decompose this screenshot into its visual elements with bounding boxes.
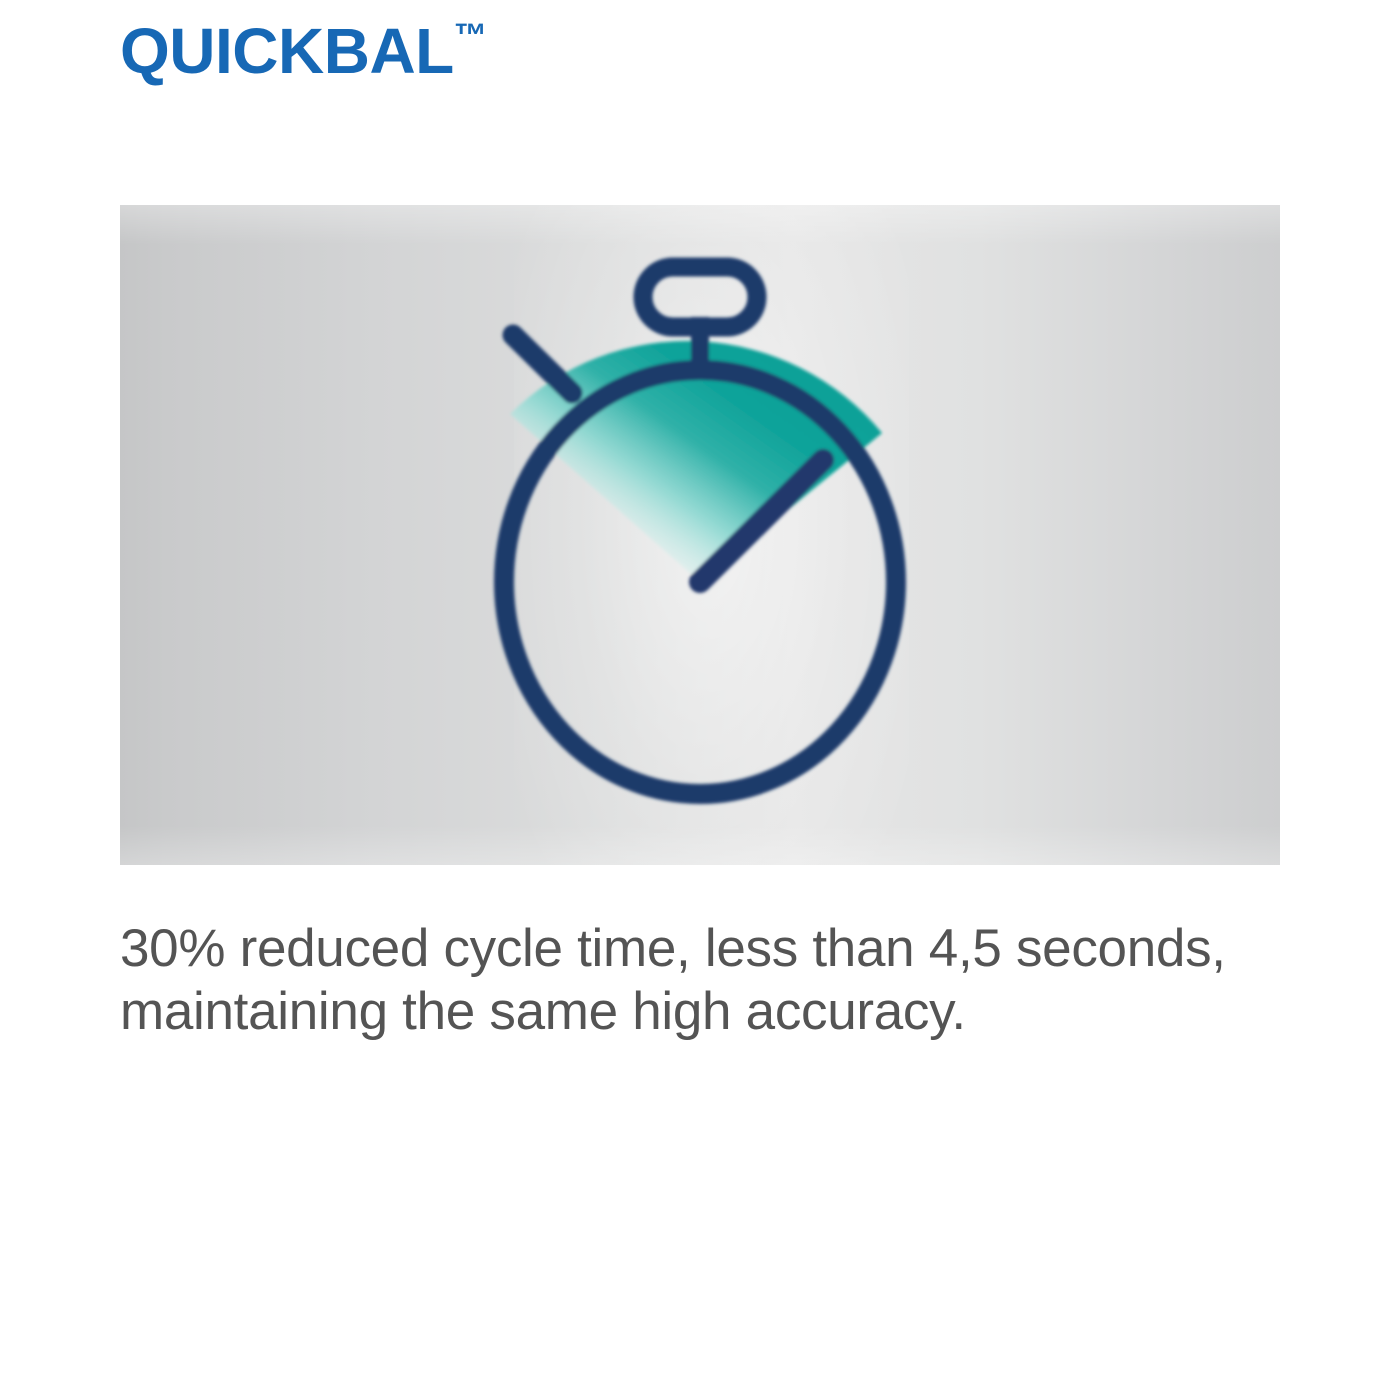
page-title: QUICKBAL™ (120, 19, 487, 83)
stopwatch-start-lever-tick (513, 335, 572, 393)
stopwatch-crown-button (643, 267, 757, 327)
hero-image-panel (120, 205, 1280, 865)
product-name-text: QUICKBAL (120, 15, 454, 87)
trademark-icon: ™ (454, 17, 487, 54)
feature-caption: 30% reduced cycle time, less than 4,5 se… (120, 918, 1235, 1043)
product-feature-card: QUICKBAL™ (0, 0, 1400, 1400)
stopwatch-icon (120, 205, 1280, 865)
